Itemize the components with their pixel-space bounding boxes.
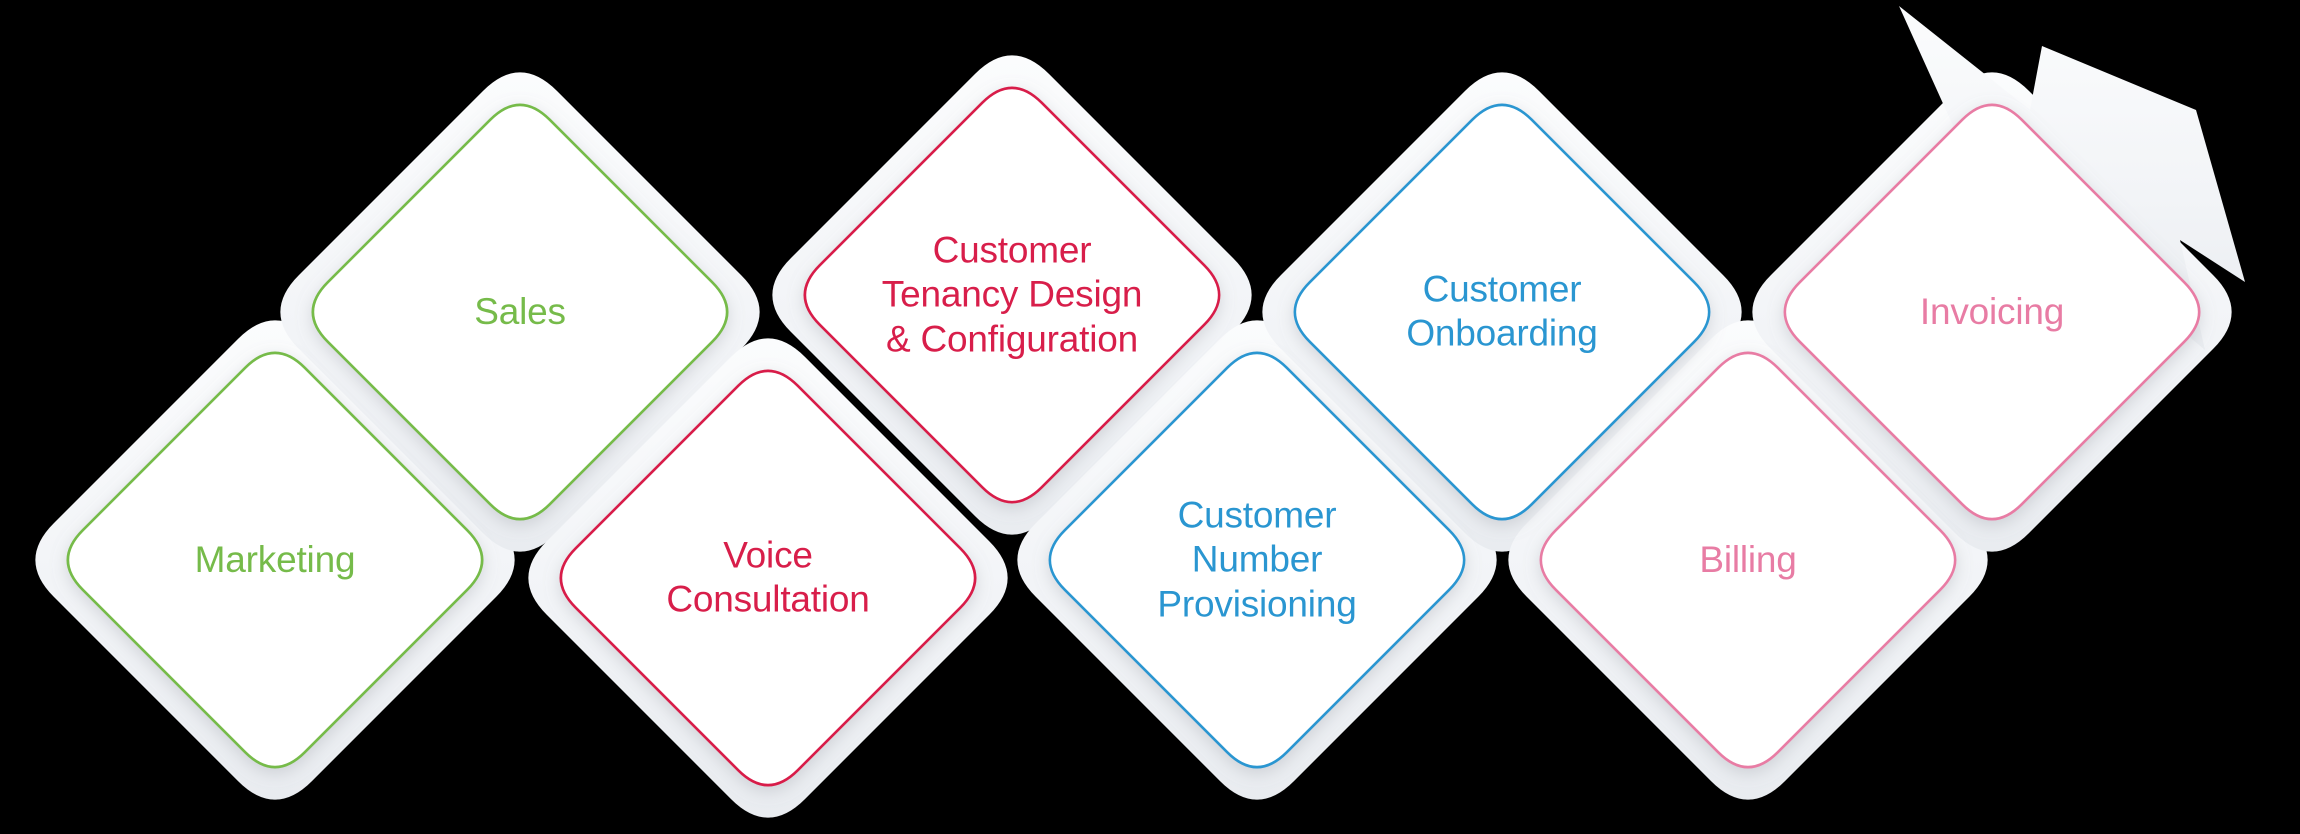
flow-diagram-canvas	[0, 0, 2300, 834]
process-flow-diagram: MarketingSalesVoice ConsultationCustomer…	[0, 0, 2300, 834]
